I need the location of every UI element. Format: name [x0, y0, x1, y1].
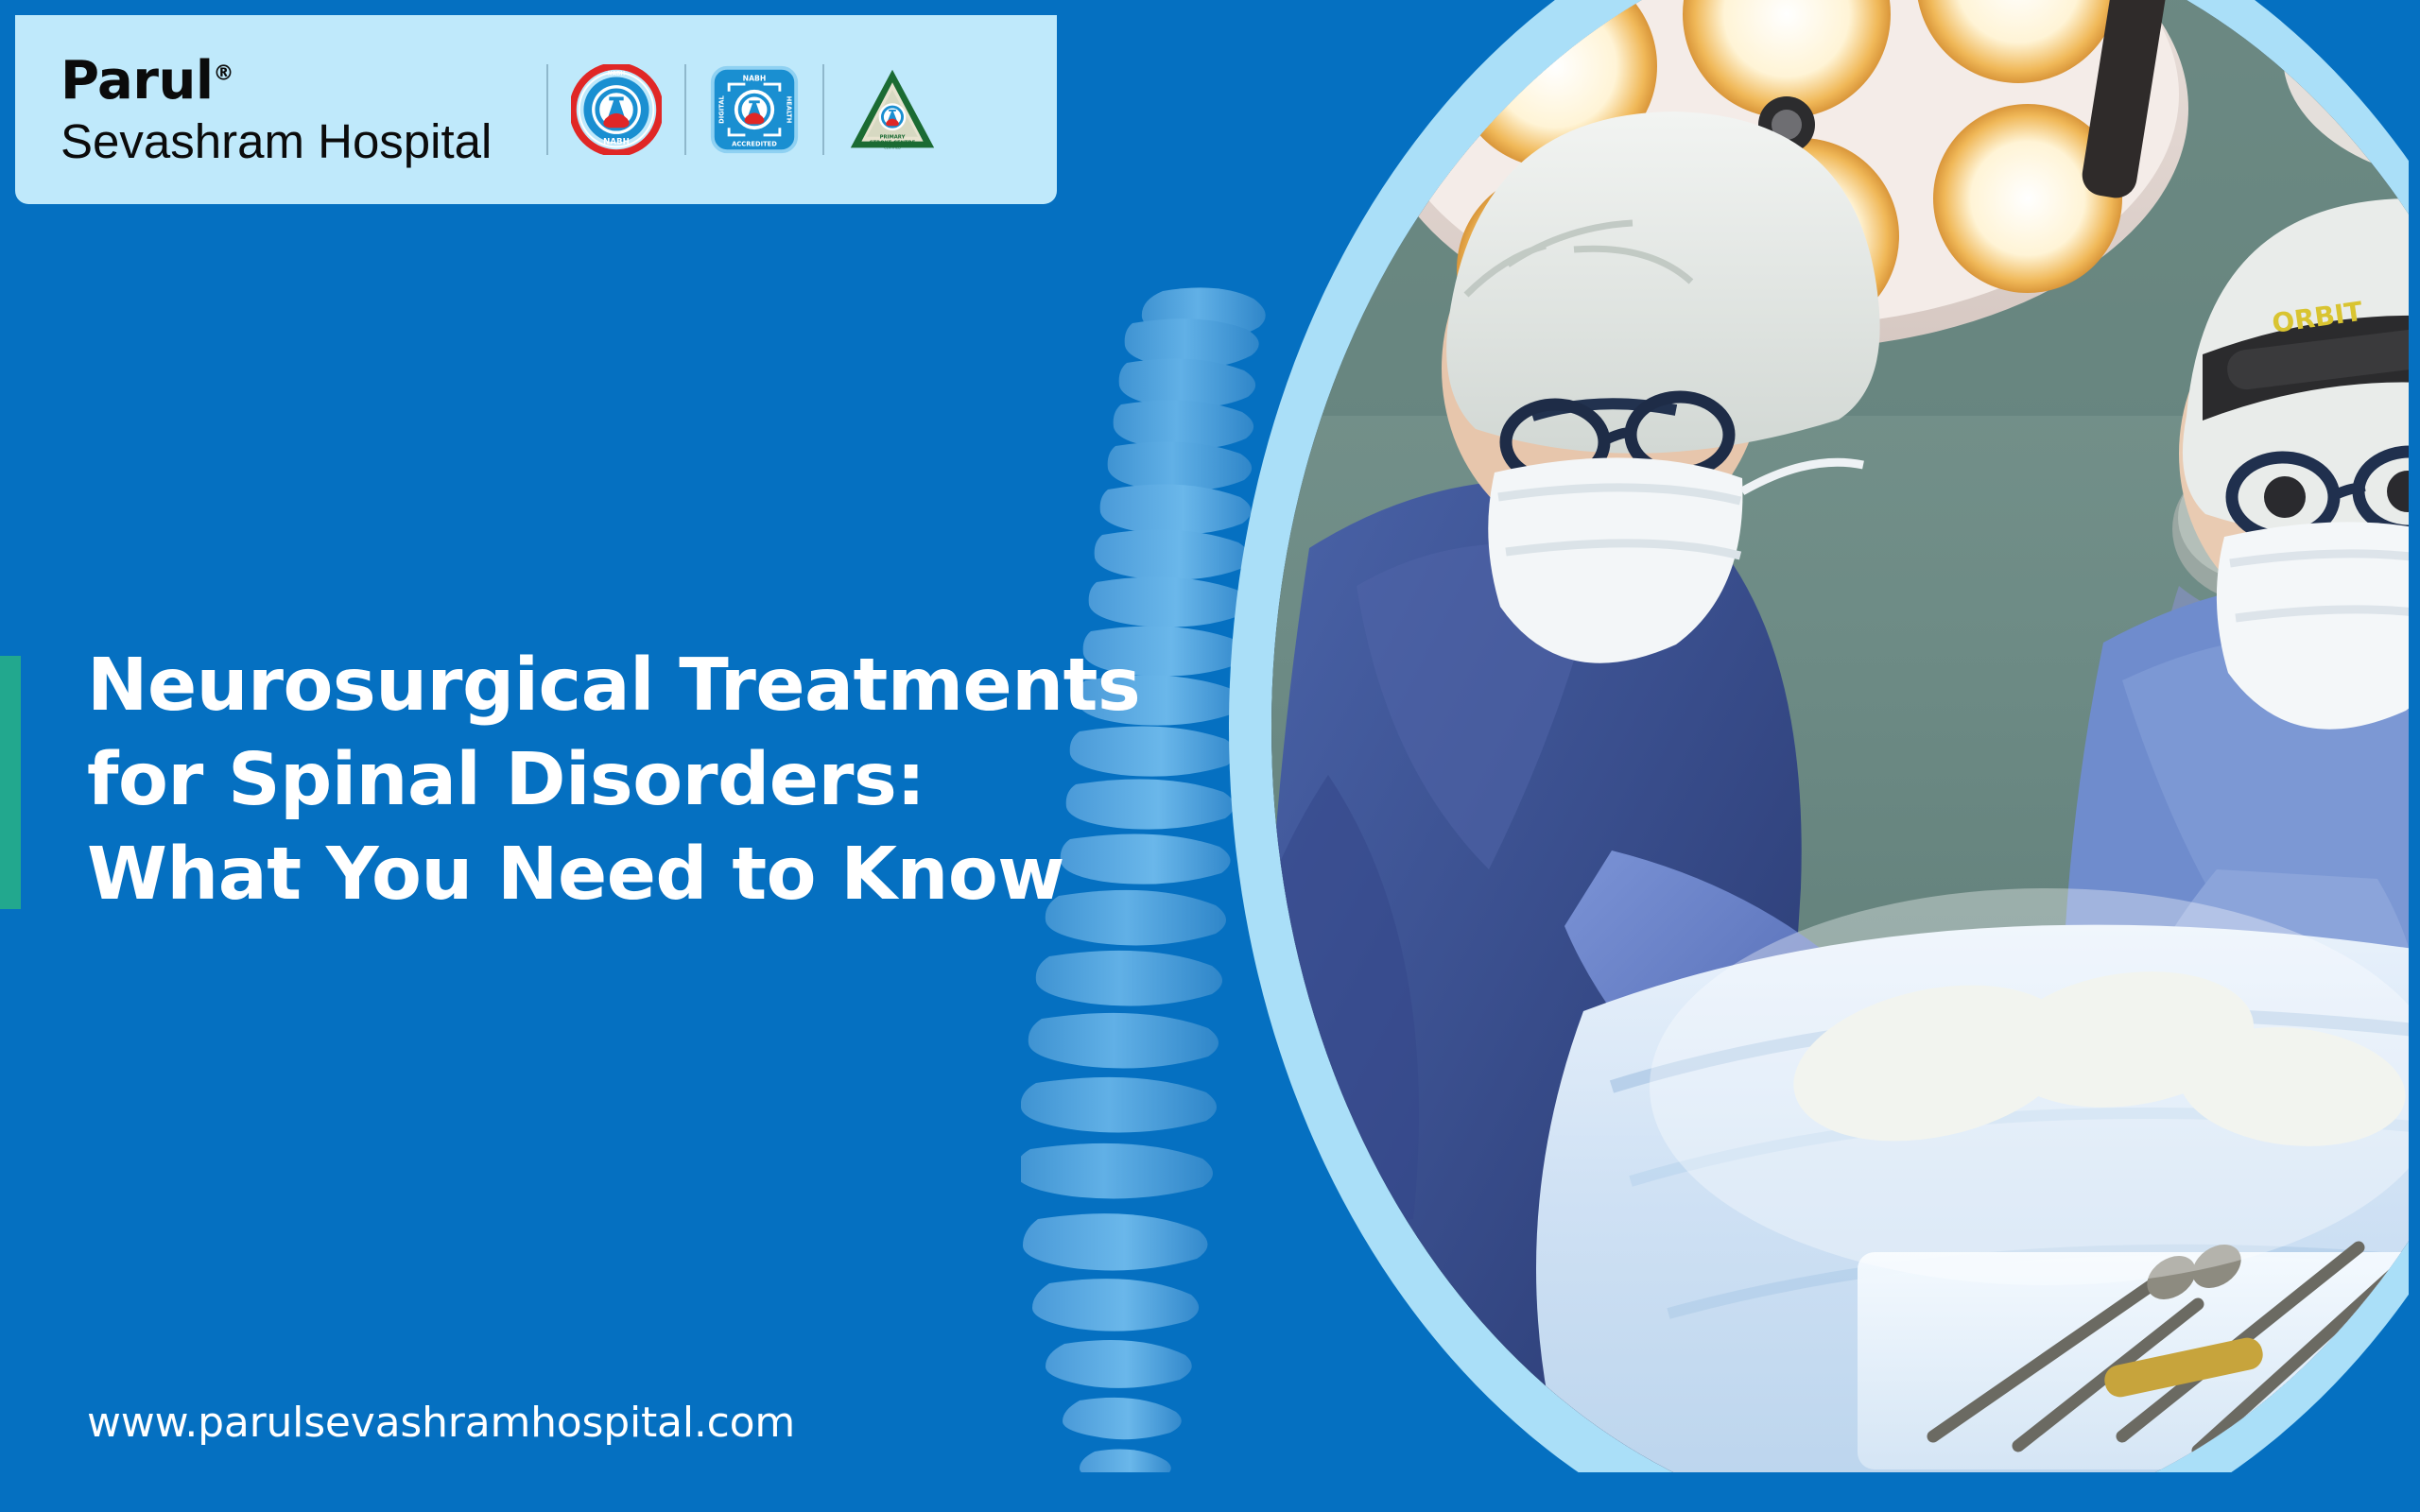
accent-bar: [0, 656, 21, 909]
svg-text:DIGITAL: DIGITAL: [718, 94, 726, 123]
primary-stroke-centre-badge: PRIMARY STROKE CENTRE CERTIFIED: [847, 64, 938, 155]
svg-text:NABH: NABH: [608, 72, 626, 77]
website-url[interactable]: www.parulsevashramhospital.com: [87, 1399, 795, 1447]
headline-line-1: Neurosurgical Treatments: [87, 639, 1184, 733]
brand-name: Parul®: [60, 55, 492, 108]
surgery-photo: ORBIT: [1271, 0, 2420, 1512]
blog-banner: ORBIT: [0, 0, 2420, 1512]
svg-text:NABH: NABH: [743, 74, 767, 82]
accreditation-badges: NABH NABH NABH ACCREDITED DIGITAL HE: [524, 64, 938, 155]
brand-name-text: Parul: [60, 50, 214, 112]
headline-line-2: for Spinal Disorders:: [87, 733, 1184, 828]
svg-text:ACCREDITED: ACCREDITED: [733, 140, 778, 147]
registered-trademark-icon: ®: [214, 61, 234, 85]
svg-text:CERTIFIED: CERTIFIED: [885, 146, 902, 149]
brand-subtitle: Sevashram Hospital: [60, 117, 492, 165]
hospital-logo-bar: Parul® Sevashram Hospital NABH NABH: [15, 15, 1057, 204]
nabh-circular-badge: NABH NABH: [571, 64, 662, 155]
brand-lockup: Parul® Sevashram Hospital: [60, 55, 492, 165]
right-blue-strip: [2409, 0, 2420, 1512]
nabh-digital-health-badge: NABH ACCREDITED DIGITAL HEALTH: [709, 64, 800, 155]
page-title: Neurosurgical Treatments for Spinal Diso…: [87, 639, 1184, 922]
bottom-blue-strip: [0, 1472, 2420, 1512]
headline-line-3: What You Need to Know: [87, 828, 1184, 922]
badge-divider: [546, 64, 548, 155]
badge-divider: [822, 64, 824, 155]
badge-divider: [684, 64, 686, 155]
svg-text:HEALTH: HEALTH: [786, 96, 793, 124]
svg-text:NABH: NABH: [604, 137, 631, 146]
